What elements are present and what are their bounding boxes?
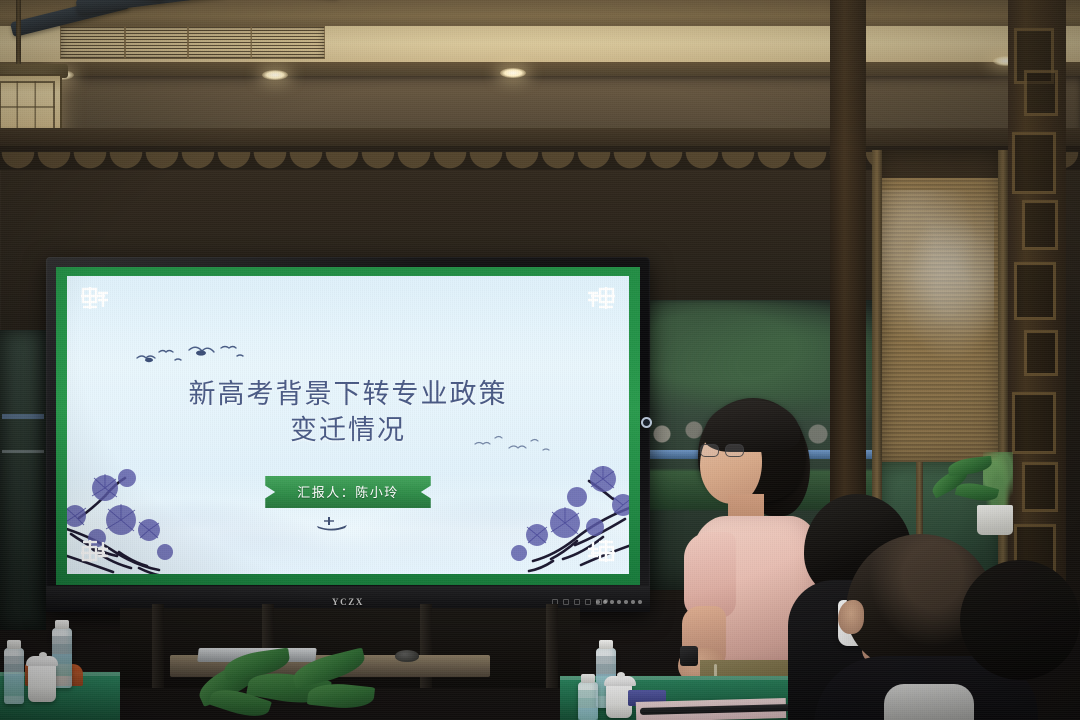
left-window: [0, 330, 46, 630]
source-icon[interactable]: [585, 599, 591, 605]
presentation-slide: 新高考背景下转专业政策 变迁情况 汇报人：陈小玲: [56, 267, 640, 585]
right-side-plant: [930, 456, 1000, 518]
lattice-corner-ornament-bottom-right: [581, 532, 615, 562]
menu-icon[interactable]: [563, 599, 569, 605]
presenter-remote-clicker: [680, 646, 698, 666]
downlight: [500, 68, 526, 78]
foreground-plant: [196, 648, 376, 720]
lattice-corner-ornament-top-left: [81, 287, 115, 317]
speaker-grille-dots: [596, 600, 642, 604]
water-bottle[interactable]: [4, 648, 24, 704]
volume-icon[interactable]: [574, 599, 580, 605]
presenter-badge-wrapper: 汇报人：陈小玲: [67, 476, 629, 508]
presentation-room-photo: 新高考背景下转专业政策 变迁情况 汇报人：陈小玲 YCZX: [0, 0, 1080, 720]
flying-birds-icon: [129, 338, 259, 378]
stand-leg: [546, 604, 558, 688]
display-side-button[interactable]: [641, 417, 652, 428]
display-control-icons[interactable]: [552, 599, 602, 605]
ink-boat-icon: [313, 516, 351, 532]
presenter-badge: 汇报人：陈小玲: [265, 476, 431, 508]
display-screen[interactable]: 新高考背景下转专业政策 变迁情况 汇报人：陈小玲: [56, 267, 640, 585]
slide-title: 新高考背景下转专业政策 变迁情况: [67, 376, 629, 448]
lattice-corner-ornament-top-right: [581, 287, 615, 317]
attendee-ear: [838, 600, 864, 634]
stand-leg: [152, 604, 164, 688]
water-bottle[interactable]: [578, 682, 598, 720]
downlight: [262, 70, 288, 80]
presenter-glasses: [700, 444, 744, 457]
slide-content-area: 新高考背景下转专业政策 变迁情况 汇报人：陈小玲: [67, 276, 629, 574]
bamboo-blind-window: [876, 150, 1004, 470]
attendee-white-shirt-shoulder: [884, 684, 974, 720]
lattice-corner-ornament-bottom-left: [81, 532, 115, 562]
ceiling-lower-plane: [0, 76, 1080, 134]
wall-display[interactable]: 新高考背景下转专业政策 变迁情况 汇报人：陈小玲 YCZX: [46, 257, 650, 612]
lidded-teacup[interactable]: [28, 664, 56, 702]
attendee-foreground-right: [960, 560, 1080, 720]
attendee-head: [960, 560, 1080, 680]
computer-mouse[interactable]: [395, 650, 419, 662]
ceiling-fan-blades: [10, 0, 340, 44]
